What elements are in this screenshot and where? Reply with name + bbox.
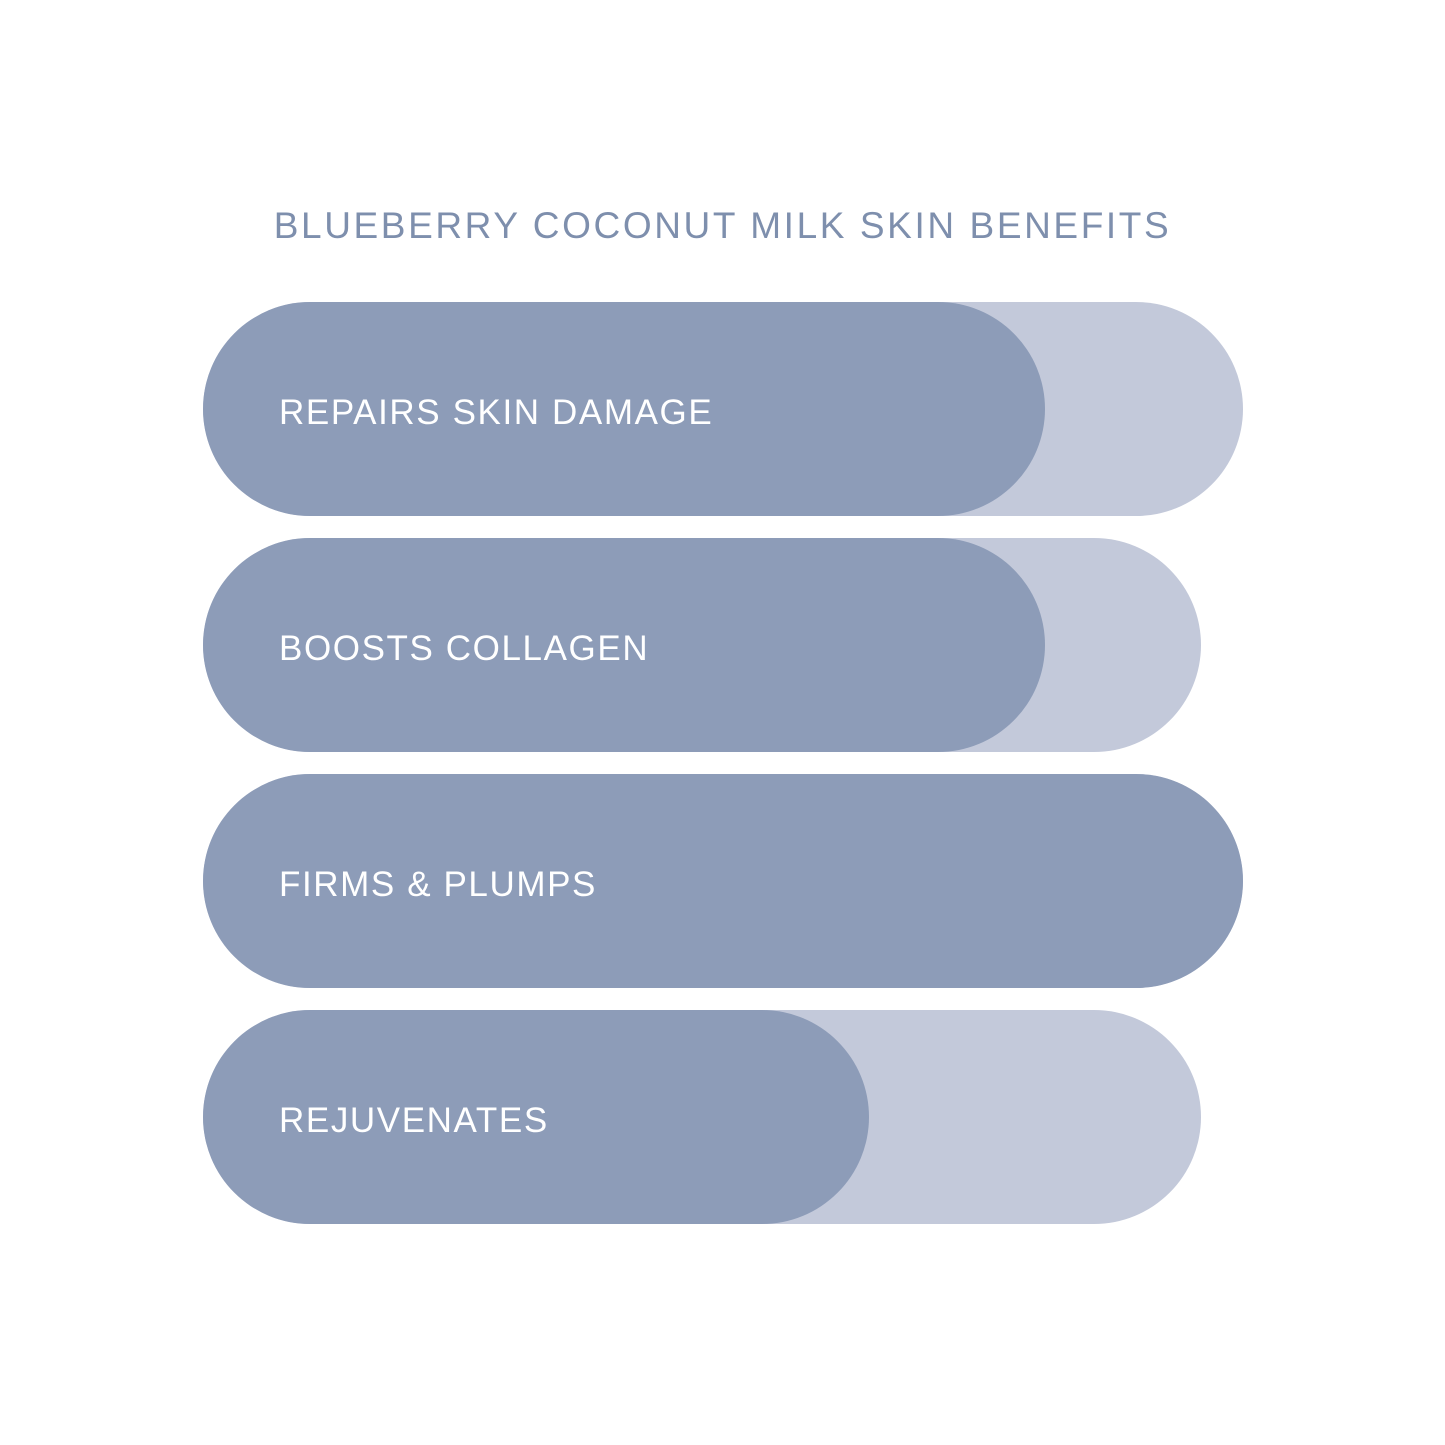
benefit-label: BOOSTS COLLAGEN [279, 538, 649, 752]
skin-benefits-infographic: BLUEBERRY COCONUT MILK SKIN BENEFITS REP… [0, 0, 1445, 1445]
benefit-bar-chart: REPAIRS SKIN DAMAGE BOOSTS COLLAGEN FIRM… [203, 302, 1243, 1224]
benefit-label: REJUVENATES [279, 1010, 549, 1224]
page-title: BLUEBERRY COCONUT MILK SKIN BENEFITS [0, 205, 1445, 247]
benefit-bar-row: REJUVENATES [203, 1010, 1243, 1224]
benefit-label: FIRMS & PLUMPS [279, 774, 597, 988]
benefit-bar-row: REPAIRS SKIN DAMAGE [203, 302, 1243, 516]
benefit-bar-row: FIRMS & PLUMPS [203, 774, 1243, 988]
benefit-bar-row: BOOSTS COLLAGEN [203, 538, 1243, 752]
benefit-label: REPAIRS SKIN DAMAGE [279, 302, 713, 516]
